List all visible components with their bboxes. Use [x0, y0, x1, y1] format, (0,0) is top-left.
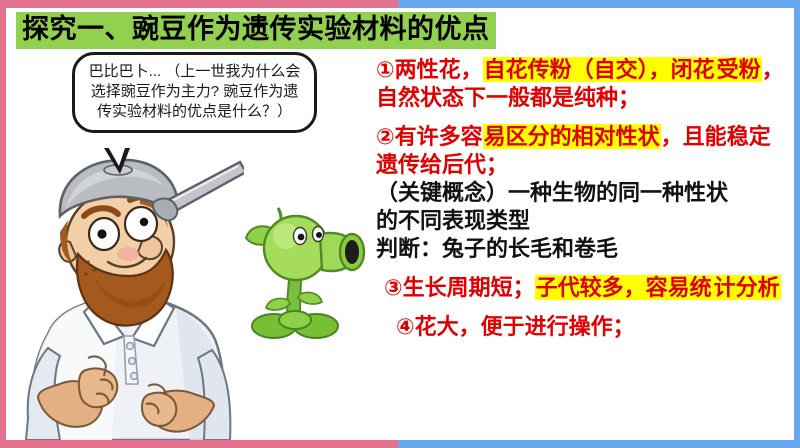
note-item-2-part-b: ，且能 [661, 124, 727, 149]
note-item-1: ①两性花，自花传粉（自交），闭花受粉，自然状态下一般都是纯种； [376, 56, 792, 112]
note-item-3-highlight-b: 计分析 [713, 275, 781, 300]
note-item-1-highlight-a: 自花传粉（自交），闭花 [483, 57, 716, 82]
slide-title-text: 探究一、豌豆作为遗传实验材料的优点 [16, 12, 496, 49]
note-item-4-text: 花大，便于进行操作； [415, 314, 635, 339]
note-item-1-highlight-b: 受粉 [716, 57, 762, 82]
note-item-3-highlight-a: 子代较多，容易统 [535, 275, 713, 300]
peashooter-plant [238, 196, 372, 346]
frame-bar-bottom-left [0, 440, 398, 448]
note-concept-line-1: （关键概念）一种生物的同一种性状 [376, 179, 792, 207]
notes-column: ①两性花，自花传粉（自交），闭花受粉，自然状态下一般都是纯种； ②有许多容易区分… [376, 56, 792, 340]
note-item-2-marker: ② [376, 124, 395, 149]
frame-bar-left [0, 0, 6, 448]
note-item-3: ③生长周期短；子代较多，容易统计分析 [376, 274, 792, 302]
speech-bubble-text: 巴比巴卜... （上一世我为什么会选择豌豆作为主力? 豌豆作为遗传实验材料的优点… [85, 62, 304, 121]
slide-canvas: 探究一、豌豆作为遗传实验材料的优点 巴比巴卜... （上一世我为什么会选择豌豆作… [0, 0, 800, 448]
note-concept-line-2: 的不同表现类型 [376, 207, 792, 235]
note-item-1-part-a: 两性花， [395, 57, 483, 82]
note-item-2-part-a: 有许多容 [395, 124, 483, 149]
note-item-2-highlight-a: 易区分的相对性状 [483, 124, 661, 149]
note-item-4-marker: ④ [396, 314, 415, 339]
frame-bar-right [794, 0, 800, 448]
frame-bar-bottom-right [398, 440, 800, 448]
note-item-3-part-a: 生长周期短； [403, 275, 535, 300]
note-concept-line-3: 判断：兔子的长毛和卷毛 [376, 235, 792, 263]
slide-title: 探究一、豌豆作为遗传实验材料的优点 [16, 12, 496, 49]
frame-bar-top-right [398, 0, 800, 8]
note-item-4: ④花大，便于进行操作； [376, 313, 792, 341]
speech-bubble-tail-inner [107, 145, 126, 166]
note-item-1-marker: ① [376, 57, 395, 82]
crazy-dave-character [8, 158, 244, 440]
speech-bubble: 巴比巴卜... （上一世我为什么会选择豌豆作为主力? 豌豆作为遗传实验材料的优点… [72, 52, 317, 133]
note-item-2: ②有许多容易区分的相对性状，且能稳定遗传给后代； [376, 123, 792, 179]
note-item-3-marker: ③ [384, 275, 403, 300]
frame-bar-top-left [0, 0, 398, 8]
